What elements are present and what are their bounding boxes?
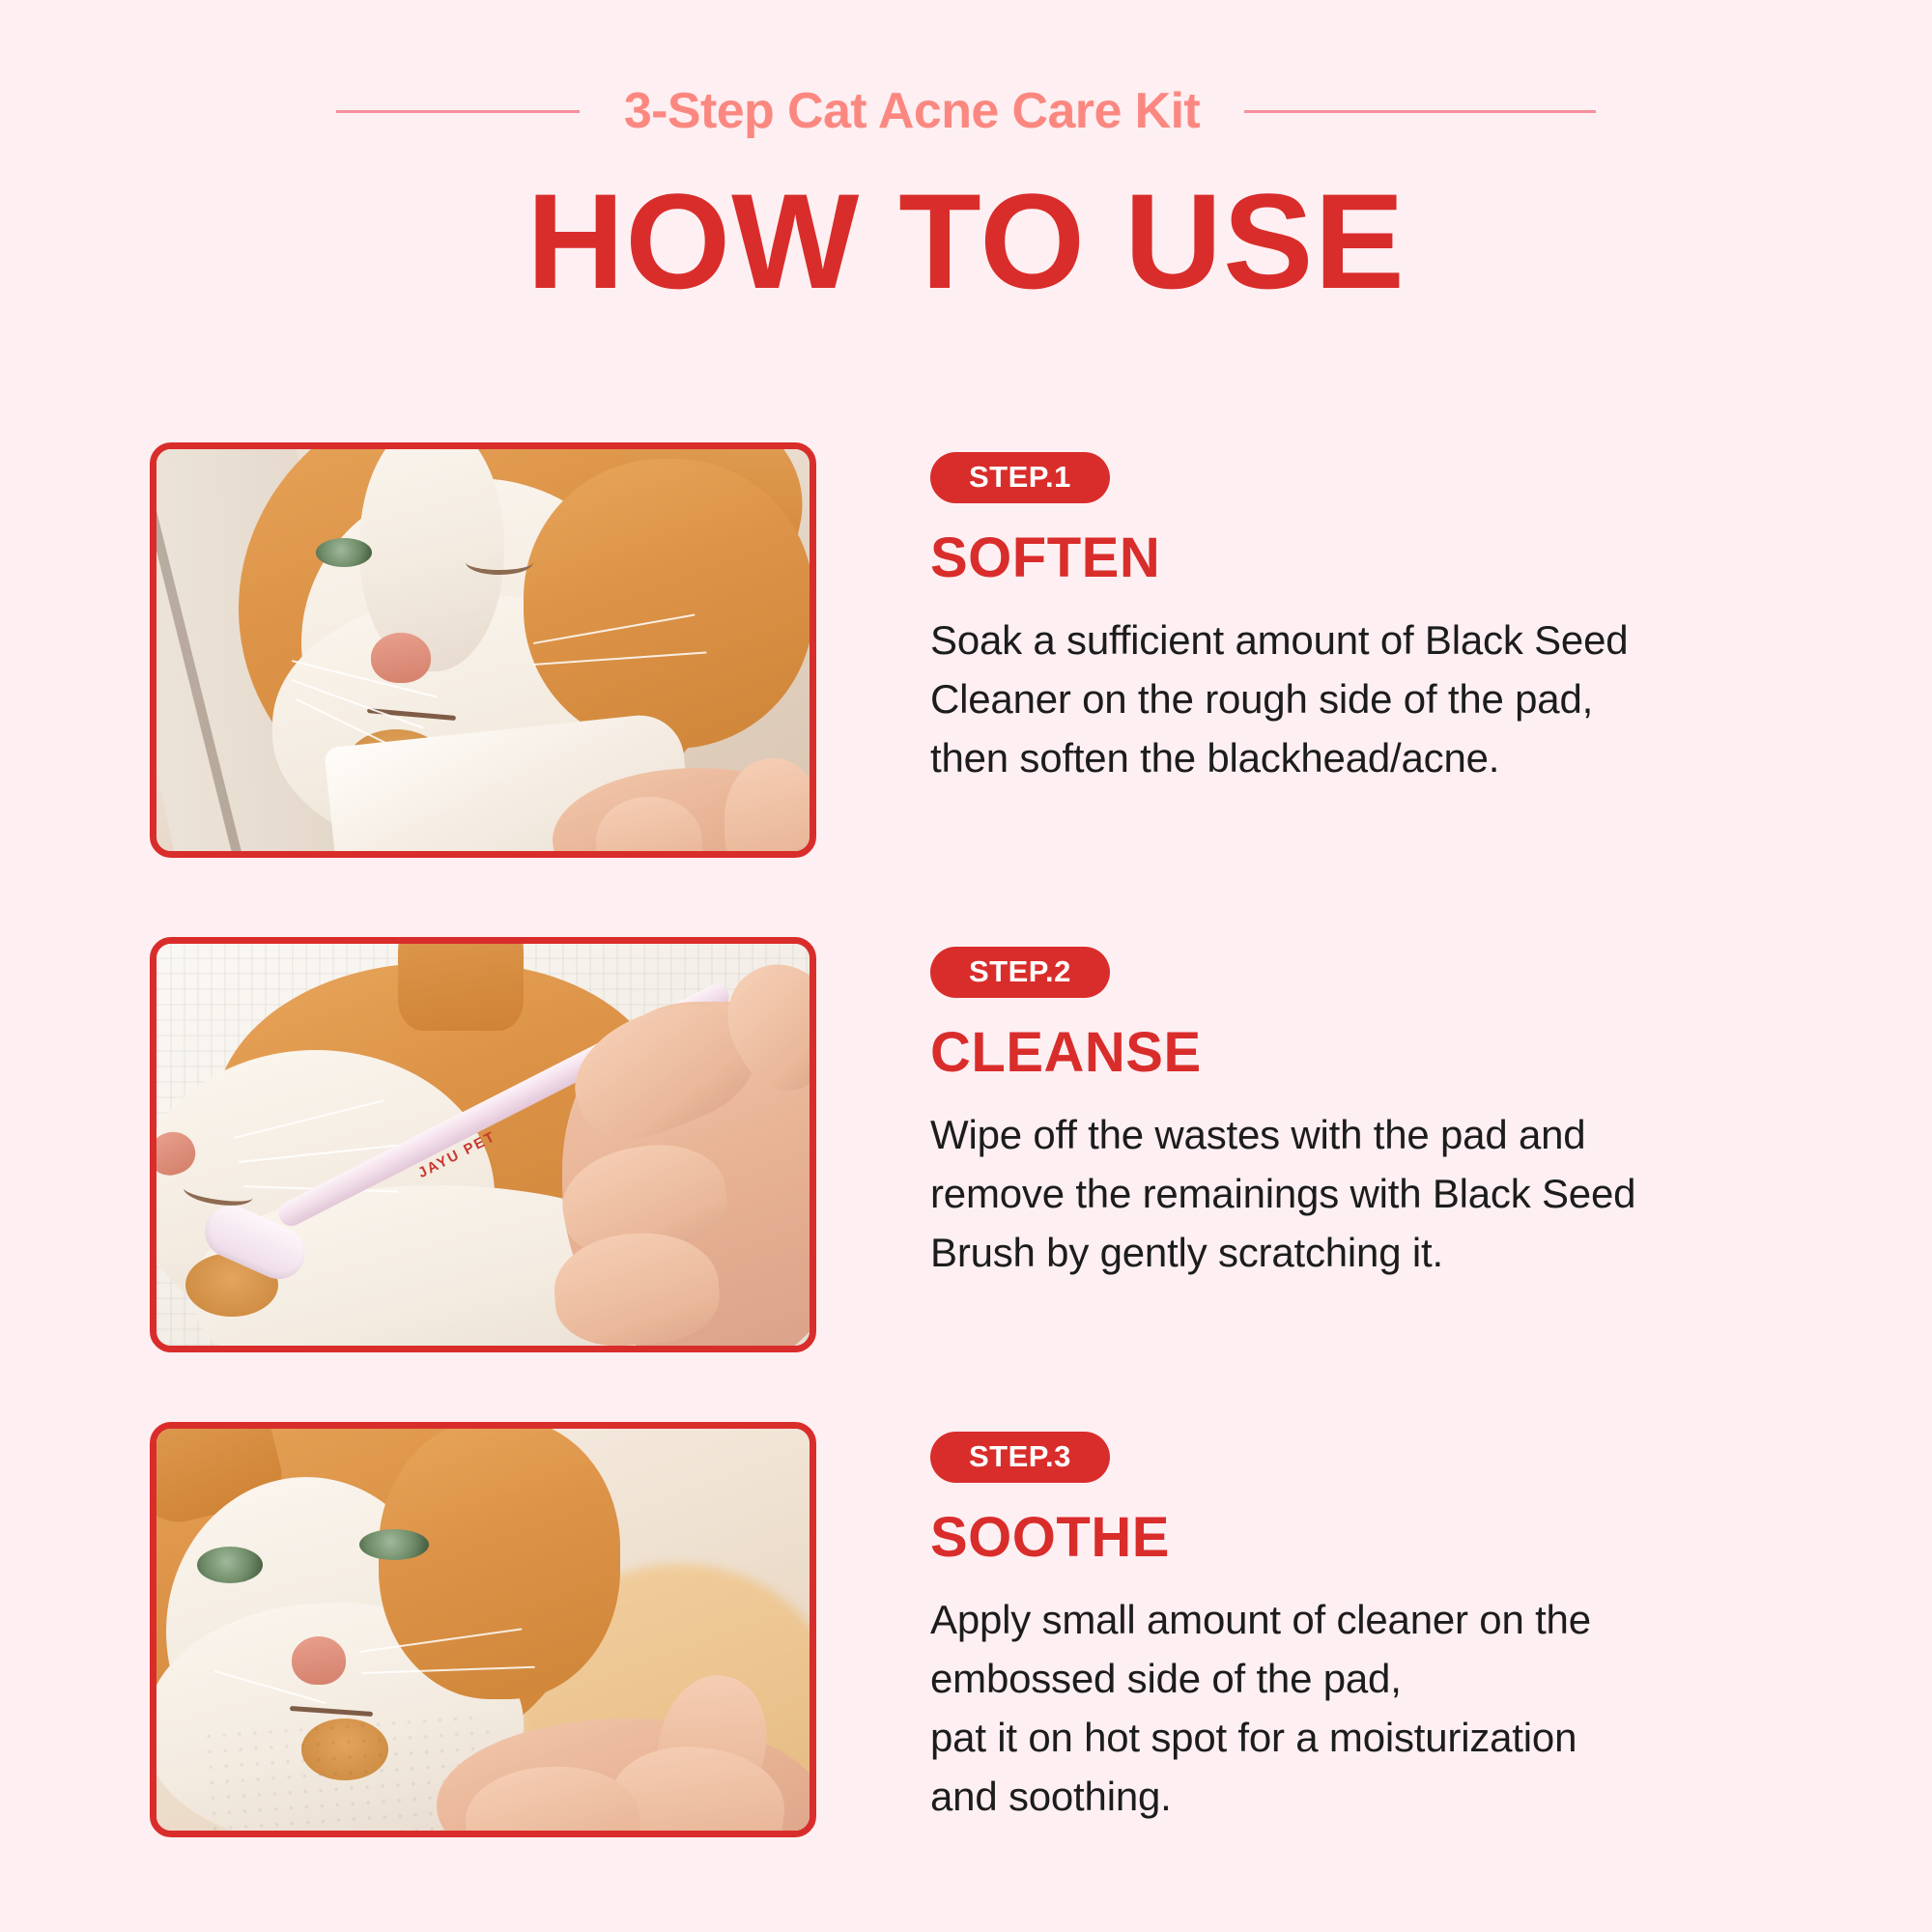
step-row-3: STEP.3 SOOTHE Apply small amount of clea… (0, 1422, 1932, 1852)
subtitle-row: 3-Step Cat Acne Care Kit (0, 75, 1932, 147)
step-1-badge: STEP.1 (930, 452, 1110, 503)
step-2-title: CLEANSE (930, 1025, 1780, 1081)
step-1-description: Soak a sufficient amount of Black Seed C… (930, 611, 1780, 788)
step-2-badge: STEP.2 (930, 947, 1110, 998)
decorative-line-left (336, 110, 580, 113)
step-1-title: SOFTEN (930, 530, 1780, 586)
step-1-photo (156, 449, 810, 851)
step-2-photo-frame: JAYU PET (150, 937, 816, 1352)
cat-eye-closed (466, 550, 533, 575)
page-title: HOW TO USE (0, 170, 1932, 312)
step-1-text: STEP.1 SOFTEN Soak a sufficient amount o… (930, 442, 1780, 788)
step-1-photo-frame (150, 442, 816, 858)
step-3-photo (156, 1429, 810, 1831)
step-3-title: SOOTHE (930, 1510, 1780, 1566)
step-row-2: JAYU PET STEP.2 CLEANSE Wipe off the was… (0, 937, 1932, 1367)
step-3-text: STEP.3 SOOTHE Apply small amount of clea… (930, 1422, 1780, 1827)
cat-eye-open (316, 538, 372, 567)
step-3-photo-frame (150, 1422, 816, 1837)
step-3-badge: STEP.3 (930, 1432, 1110, 1483)
step-2-description: Wipe off the wastes with the pad and rem… (930, 1106, 1780, 1283)
step-2-text: STEP.2 CLEANSE Wipe off the wastes with … (930, 937, 1780, 1283)
page-header: 3-Step Cat Acne Care Kit HOW TO USE (0, 0, 1932, 312)
page-subtitle: 3-Step Cat Acne Care Kit (624, 86, 1200, 136)
decorative-line-right (1244, 110, 1596, 113)
step-2-photo: JAYU PET (156, 944, 810, 1346)
step-3-description: Apply small amount of cleaner on the emb… (930, 1591, 1780, 1827)
step-row-1: STEP.1 SOFTEN Soak a sufficient amount o… (0, 442, 1932, 872)
